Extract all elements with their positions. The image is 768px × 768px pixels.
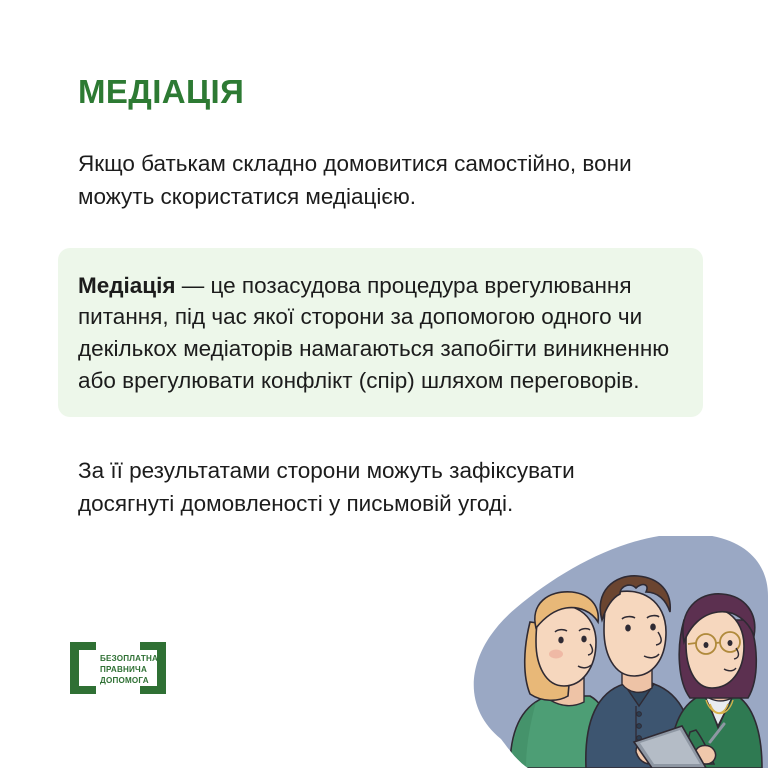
intro-paragraph: Якщо батькам складно домовитися самостій… [78,148,658,213]
definition-callout: Медіація — це позасудова процедура врегу… [58,248,703,418]
tablet [634,726,706,768]
definition-term: Медіація [78,273,176,298]
page-title: МЕДІАЦІЯ [78,74,718,110]
outro-paragraph: За її результатами сторони можуть зафікс… [78,455,658,520]
bezoplatna-pravnycha-dopomoha-logo: БЕЗОПЛАТНА ПРАВНИЧА ДОПОМОГА [70,642,166,694]
content-column: МЕДІАЦІЯ Якщо батькам складно домовитися… [78,0,718,521]
logo-line-2: ПРАВНИЧА [100,665,147,674]
blob-shape [474,536,768,768]
logo-line-1: БЕЗОПЛАТНА [100,654,158,663]
definition-separator: — [176,273,211,298]
figure-blonde-woman [510,592,614,768]
logo-line-3: ДОПОМОГА [100,676,149,685]
three-people-with-tablet-illustration [438,536,768,768]
definition-text: Медіація — це позасудова процедура врегу… [78,270,683,398]
infographic-card: МЕДІАЦІЯ Якщо батькам складно домовитися… [0,0,768,768]
figure-man-in-polo [586,576,694,768]
figure-woman-with-glasses [670,594,762,768]
left-bracket-icon [70,642,96,694]
